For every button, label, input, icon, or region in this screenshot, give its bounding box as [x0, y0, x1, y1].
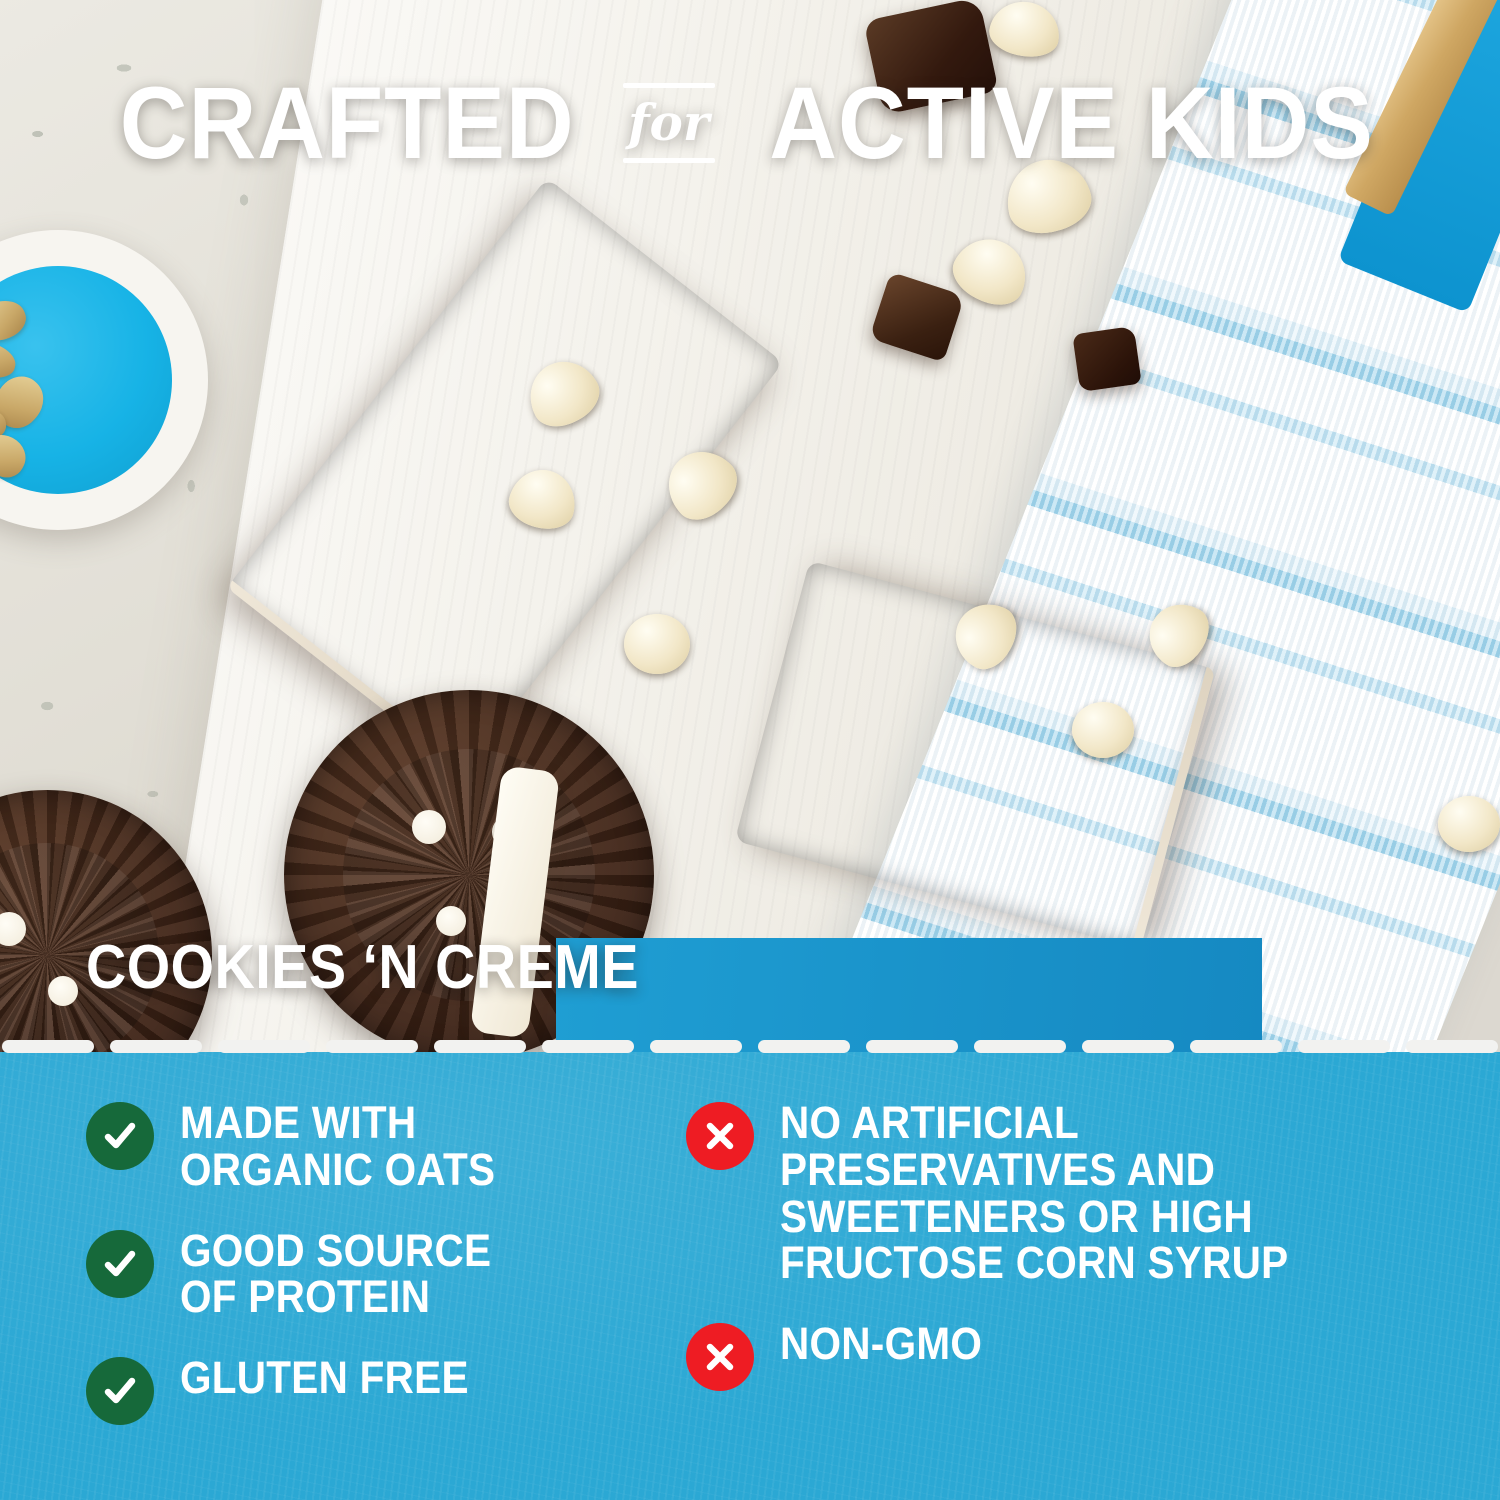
claim-line: GLUTEN FREE [180, 1355, 635, 1402]
divider-dash [110, 1040, 202, 1053]
claims-column-left: MADE WITH ORGANIC OATS GOOD SOURCE OF PR… [86, 1100, 686, 1425]
claim-line: SWEETENERS OR HIGH [780, 1194, 1406, 1241]
claim-good-source-of-protein: GOOD SOURCE OF PROTEIN [86, 1228, 686, 1322]
check-icon [86, 1357, 154, 1425]
claims-panel: MADE WITH ORGANIC OATS GOOD SOURCE OF PR… [0, 1052, 1500, 1500]
claim-text: MADE WITH ORGANIC OATS [180, 1100, 635, 1194]
headline-part1: CRAFTED [120, 72, 575, 174]
claim-text: NO ARTIFICIAL PRESERVATIVES AND SWEETENE… [780, 1100, 1406, 1287]
claim-line: NON-GMO [780, 1321, 1406, 1368]
claim-line: NO ARTIFICIAL [780, 1100, 1406, 1147]
cross-icon [686, 1323, 754, 1391]
claim-line: FRUCTOSE CORN SYRUP [780, 1240, 1406, 1287]
towel-blue-stripe-lower [556, 938, 1262, 1052]
claim-no-artificial-preservatives: NO ARTIFICIAL PRESERVATIVES AND SWEETENE… [686, 1100, 1476, 1287]
check-icon [86, 1102, 154, 1170]
claim-text: NON-GMO [780, 1321, 1406, 1368]
divider-dash [434, 1040, 526, 1053]
divider-dash [326, 1040, 418, 1053]
white-chocolate-chip [1438, 796, 1500, 852]
product-marketing-poster: CRAFTED for ACTIVE KIDS COOKIES ‘N CREME [0, 0, 1500, 1500]
claim-line: ORGANIC OATS [180, 1147, 635, 1194]
divider-dash [1190, 1040, 1282, 1053]
connector-rule-bottom [623, 158, 715, 163]
cookie-creme-dot [412, 810, 446, 844]
dashed-divider [0, 1040, 1500, 1053]
cookie-creme-dot [48, 976, 78, 1006]
claim-made-with-organic-oats: MADE WITH ORGANIC OATS [86, 1100, 686, 1194]
claims-column-right: NO ARTIFICIAL PRESERVATIVES AND SWEETENE… [686, 1100, 1476, 1391]
claim-gluten-free: GLUTEN FREE [86, 1355, 686, 1425]
claim-text: GLUTEN FREE [180, 1355, 635, 1402]
claim-non-gmo: NON-GMO [686, 1321, 1476, 1391]
claim-line: PRESERVATIVES AND [780, 1147, 1406, 1194]
headline: CRAFTED for ACTIVE KIDS [0, 72, 1500, 174]
dark-chocolate-chunk [1072, 326, 1141, 392]
divider-dash [1298, 1040, 1390, 1053]
divider-dash [1082, 1040, 1174, 1053]
connector-rule-top [623, 83, 715, 88]
flavor-name: COOKIES ‘N CREME [86, 932, 639, 1003]
headline-connector-block: for [619, 83, 719, 163]
divider-dash [974, 1040, 1066, 1053]
divider-dash [542, 1040, 634, 1053]
claims-columns: MADE WITH ORGANIC OATS GOOD SOURCE OF PR… [0, 1052, 1500, 1500]
claim-line: OF PROTEIN [180, 1274, 635, 1321]
divider-dash [2, 1040, 94, 1053]
check-icon [86, 1230, 154, 1298]
divider-dash [218, 1040, 310, 1053]
divider-dash [758, 1040, 850, 1053]
claim-text: GOOD SOURCE OF PROTEIN [180, 1228, 635, 1322]
white-chocolate-chip [1072, 702, 1134, 758]
divider-dash [866, 1040, 958, 1053]
cross-icon [686, 1102, 754, 1170]
divider-dash [650, 1040, 742, 1053]
headline-connector: for [628, 95, 709, 151]
white-chocolate-chip [624, 614, 690, 674]
claim-line: GOOD SOURCE [180, 1228, 635, 1275]
divider-dash [1406, 1040, 1498, 1053]
claim-line: MADE WITH [180, 1100, 635, 1147]
headline-part2: ACTIVE KIDS [769, 72, 1374, 174]
cookie-creme-dot [0, 912, 26, 946]
